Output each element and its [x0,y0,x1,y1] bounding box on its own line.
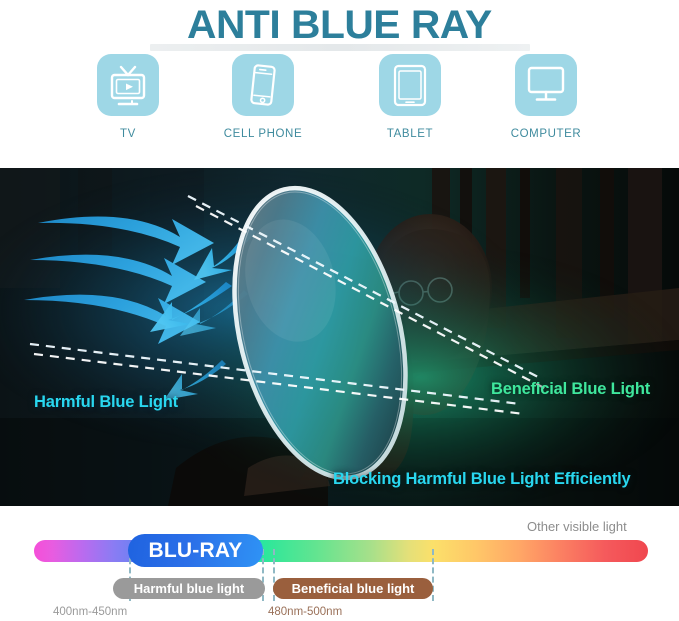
beneficial-blue-light-pill: Beneficial blue light [273,578,433,599]
tablet-tile [379,54,441,116]
harmful-blue-light-label: Harmful Blue Light [34,393,178,412]
computer-tile [515,54,577,116]
tv-icon [97,54,159,116]
blocking-efficiency-label: Blocking Harmful Blue Light Efficiently [333,470,630,489]
play-triangle-icon [126,84,133,91]
tv-tile [97,54,159,116]
visible-spectrum-bar [34,540,648,562]
lens-illustration-photo: Harmful Blue Light Beneficial Blue Light… [0,168,679,506]
device-item-tablet: TABLET [340,54,480,140]
device-item-cell-phone: CELL PHONE [193,54,333,140]
device-label-tv: TV [58,128,198,140]
spectrum-tick-500nm [432,549,434,601]
device-item-tv: TV [58,54,198,140]
beneficial-blue-light-label: Beneficial Blue Light [491,380,650,399]
device-label-cell-phone: CELL PHONE [193,128,333,140]
bluray-pill: BLU-RAY [128,534,263,567]
device-item-computer: COMPUTER [476,54,616,140]
other-visible-light-label: Other visible light [527,519,627,534]
harmful-blue-light-pill: Harmful blue light [113,578,265,599]
title-block: ANTI BLUE RAY [0,2,679,50]
page-title: ANTI BLUE RAY [187,2,492,48]
computer-monitor-icon [515,54,577,116]
beneficial-range-label: 480nm-500nm [268,606,342,618]
anti-blue-ray-infographic: ANTI BLUE RAY [0,0,679,621]
cell-phone-icon [232,54,294,116]
device-icon-row: TV CELL PHONE [0,54,679,160]
photo-scene [0,168,679,506]
harmful-range-label: 400nm-450nm [53,606,127,618]
device-label-tablet: TABLET [340,128,480,140]
header-section: ANTI BLUE RAY [0,0,679,168]
spectrum-section: Other visible light BLU-RAY Harmful blue… [0,506,679,621]
tablet-icon [379,54,441,116]
cell-phone-tile [232,54,294,116]
device-label-computer: COMPUTER [476,128,616,140]
